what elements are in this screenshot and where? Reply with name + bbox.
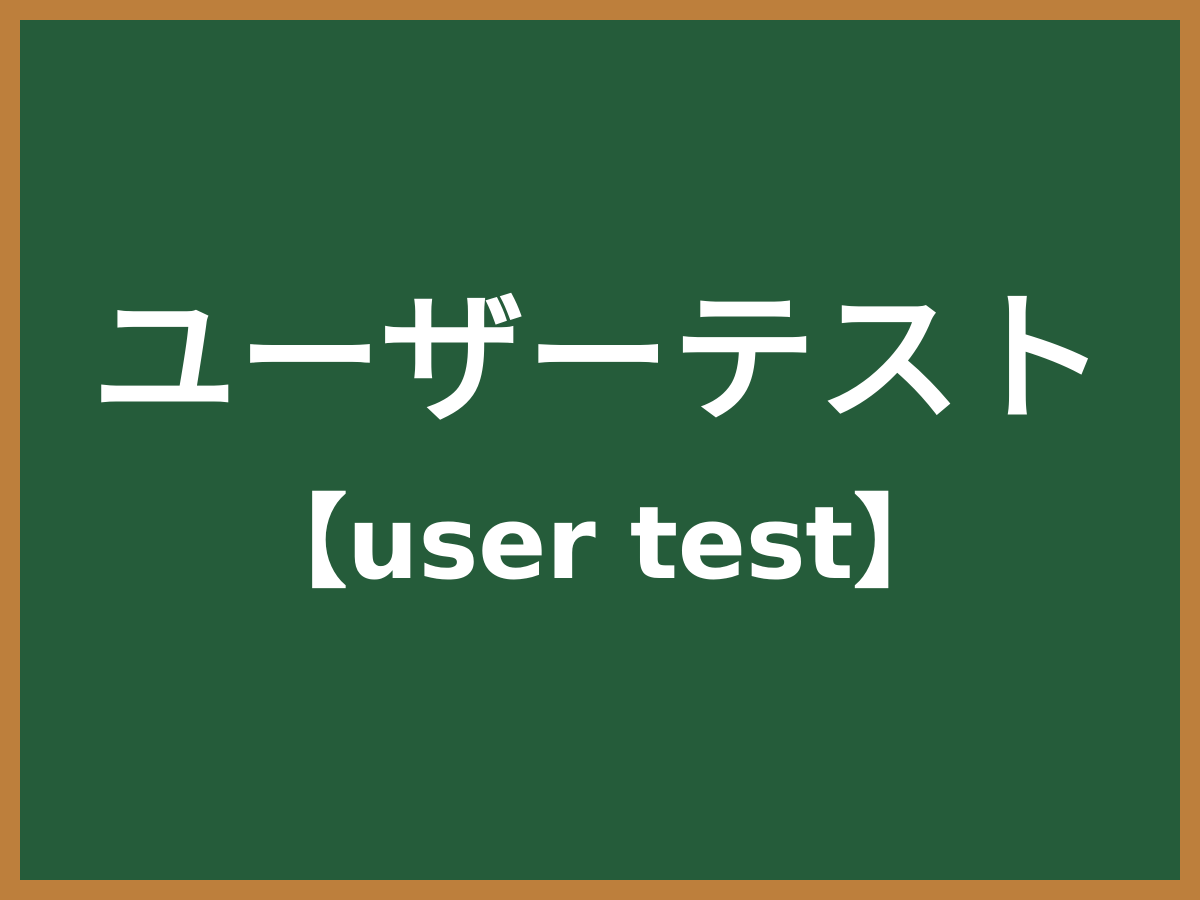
card-canvas: ユーザーテスト 【user test】 bbox=[0, 0, 1200, 900]
green-board-panel: ユーザーテスト 【user test】 bbox=[20, 20, 1180, 880]
text-stack: ユーザーテスト 【user test】 bbox=[20, 20, 1180, 880]
outer-border-frame: ユーザーテスト 【user test】 bbox=[0, 0, 1200, 900]
headline-japanese: ユーザーテスト bbox=[92, 289, 1108, 431]
subline-romanization: 【user test】 bbox=[246, 493, 953, 594]
